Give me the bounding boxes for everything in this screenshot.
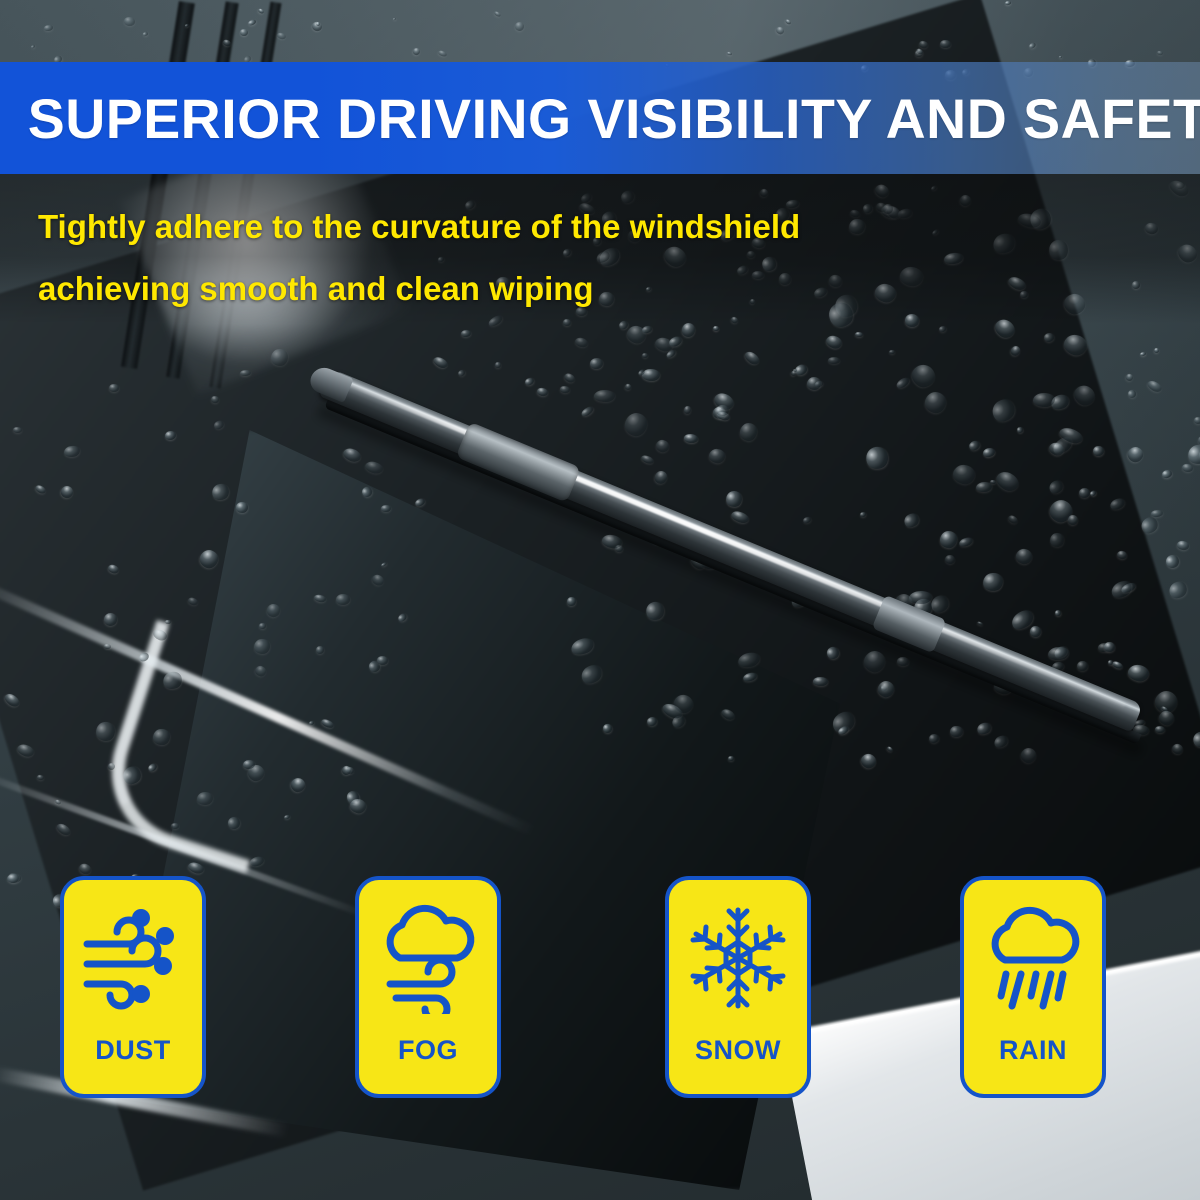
badge-dust[interactable]: DUST <box>60 876 206 1098</box>
badge-label-dust: DUST <box>64 1035 202 1066</box>
feature-badge-row: DUST FOG <box>0 876 1200 1102</box>
badge-snow[interactable]: SNOW <box>665 876 811 1098</box>
badge-label-snow: SNOW <box>669 1035 807 1066</box>
product-marketing-image: SUPERIOR DRIVING VISIBILITY AND SAFETY T… <box>0 0 1200 1200</box>
cloud-rain-icon <box>979 902 1087 1014</box>
badge-rain[interactable]: RAIN <box>960 876 1106 1098</box>
cloud-fog-icon <box>374 902 482 1014</box>
badge-fog[interactable]: FOG <box>355 876 501 1098</box>
headline-banner: SUPERIOR DRIVING VISIBILITY AND SAFETY <box>0 62 1200 174</box>
subtitle-block: Tightly adhere to the curvature of the w… <box>38 196 1038 320</box>
page-title: SUPERIOR DRIVING VISIBILITY AND SAFETY <box>0 86 1200 151</box>
snowflake-icon <box>684 902 792 1014</box>
badge-label-rain: RAIN <box>964 1035 1102 1066</box>
subtitle-line-2: achieving smooth and clean wiping <box>38 258 1038 320</box>
wind-dust-icon <box>79 902 187 1014</box>
subtitle-line-1: Tightly adhere to the curvature of the w… <box>38 196 1038 258</box>
badge-label-fog: FOG <box>359 1035 497 1066</box>
